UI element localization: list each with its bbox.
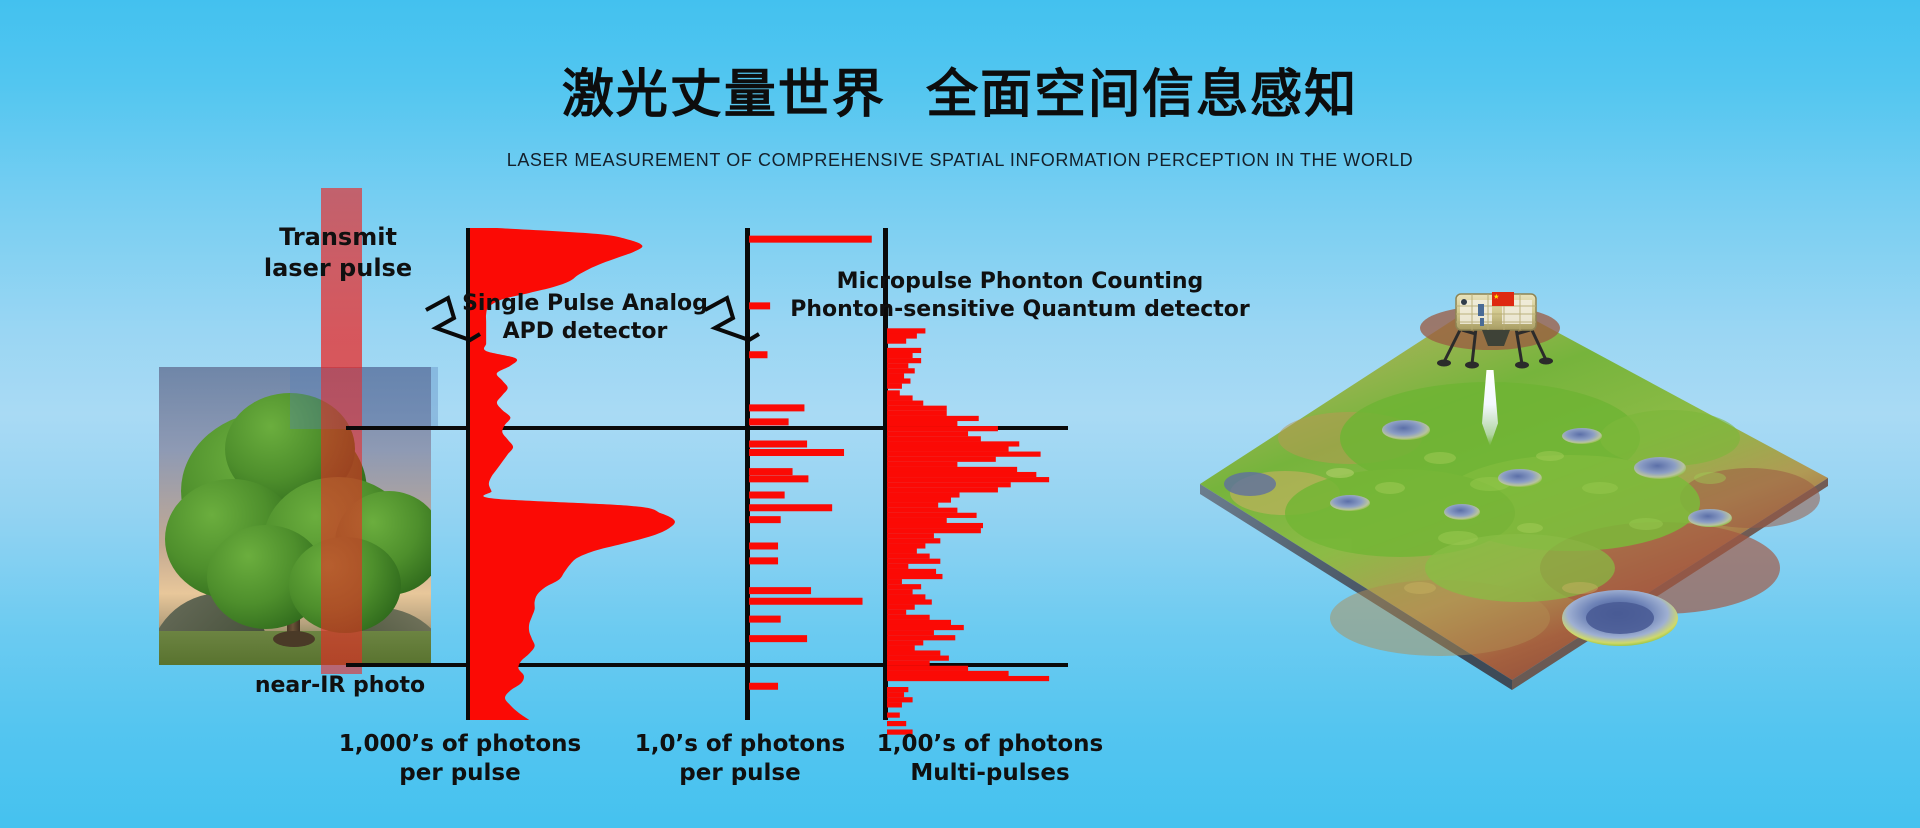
chart-bar bbox=[749, 616, 781, 623]
chart-bar bbox=[887, 620, 951, 625]
chart-bar bbox=[887, 605, 915, 610]
chart-bar bbox=[887, 487, 998, 492]
chart-bar bbox=[887, 497, 951, 502]
chart-bar bbox=[749, 635, 807, 642]
chart-bar bbox=[887, 436, 981, 441]
chart-bar bbox=[887, 615, 930, 620]
lunar-lander bbox=[1430, 284, 1560, 380]
chart-bar bbox=[887, 348, 921, 353]
chart-bar bbox=[887, 431, 968, 436]
chart-bar bbox=[887, 559, 940, 564]
chart-bar bbox=[887, 373, 904, 378]
lander-footpads bbox=[1437, 358, 1553, 369]
chart-bar bbox=[887, 368, 915, 373]
footer-label-chart1: 1,000’s of photons per pulse bbox=[300, 730, 620, 789]
chart-bar bbox=[887, 543, 925, 548]
chart-bar bbox=[887, 395, 913, 400]
chart-bar bbox=[887, 564, 908, 569]
chart-bar bbox=[887, 482, 1011, 487]
chart-bar bbox=[887, 446, 1009, 451]
chart-bar bbox=[887, 599, 932, 604]
chart-bar bbox=[887, 508, 957, 513]
chart-bar bbox=[887, 692, 904, 697]
page-title: 激光丈量世界 全面空间信息感知 bbox=[0, 52, 1920, 127]
label-near-ir-photo: near-IR photo bbox=[210, 672, 470, 700]
chart-bar bbox=[749, 587, 811, 594]
chart-bar bbox=[887, 528, 981, 533]
china-flag-icon bbox=[1492, 292, 1514, 306]
chart-bar bbox=[887, 713, 900, 718]
poster-canvas: 激光丈量世界 全面空间信息感知 LASER MEASUREMENT OF COM… bbox=[0, 0, 1920, 828]
chart-bar bbox=[887, 635, 955, 640]
chart-bar bbox=[887, 462, 957, 467]
chart-bar bbox=[749, 468, 793, 475]
page-subtitle: LASER MEASUREMENT OF COMPREHENSIVE SPATI… bbox=[0, 150, 1920, 171]
chart-bar bbox=[887, 671, 1009, 676]
chart-bar bbox=[887, 574, 942, 579]
chart-bar bbox=[749, 683, 778, 690]
chart-bar bbox=[887, 401, 923, 406]
chart-bar bbox=[887, 339, 906, 344]
chart-bar bbox=[887, 676, 1049, 681]
chart-bar bbox=[887, 702, 902, 707]
chart-bar bbox=[887, 378, 910, 383]
chart-bar bbox=[887, 610, 906, 615]
chart-bar bbox=[887, 353, 913, 358]
chart-bar bbox=[887, 523, 983, 528]
chart-bar bbox=[749, 404, 804, 411]
chart-bar bbox=[887, 548, 917, 553]
chart-bar bbox=[749, 557, 778, 564]
chart-bar bbox=[887, 363, 908, 368]
chart-bar bbox=[887, 503, 938, 508]
chart-bar bbox=[749, 492, 785, 499]
chart-bar bbox=[749, 598, 863, 605]
chart-bar bbox=[887, 457, 996, 462]
chart-bar bbox=[887, 406, 947, 411]
chart-bar bbox=[887, 467, 1017, 472]
chart-bar bbox=[887, 721, 906, 726]
chart-bar bbox=[887, 416, 979, 421]
chart-bar bbox=[749, 475, 808, 482]
footer-label-chart3: 1,00’s of photons Multi-pulses bbox=[830, 730, 1150, 789]
chart-bar bbox=[887, 661, 930, 666]
chart-bar bbox=[887, 640, 923, 645]
chart-bar bbox=[887, 426, 998, 431]
chart-bar bbox=[887, 630, 934, 635]
chart-bar bbox=[887, 697, 913, 702]
chart-bar bbox=[887, 492, 960, 497]
chart-bar bbox=[887, 589, 913, 594]
label-single-pulse-analog-apd: Single Pulse Analog APD detector bbox=[420, 290, 750, 346]
chart-bar bbox=[887, 650, 940, 655]
chart-bar bbox=[887, 579, 902, 584]
chart-bar bbox=[749, 236, 872, 243]
chart-bar bbox=[887, 441, 1019, 446]
chart-bar bbox=[749, 351, 767, 358]
chart-bar bbox=[749, 504, 832, 511]
chart-bar bbox=[749, 516, 781, 523]
chart-bar bbox=[887, 518, 947, 523]
chart-bar bbox=[887, 390, 900, 395]
chart-bar bbox=[887, 645, 915, 650]
chart-bar bbox=[887, 421, 957, 426]
chart-bar bbox=[887, 333, 917, 338]
chart-bar bbox=[887, 687, 908, 692]
chart-bar bbox=[887, 411, 947, 416]
chart-bar bbox=[887, 513, 977, 518]
chart-bar bbox=[749, 418, 789, 425]
chart-bar bbox=[887, 569, 936, 574]
chart-bar bbox=[749, 449, 844, 456]
chart-bar bbox=[749, 543, 778, 550]
label-transmit-laser-pulse: Transmit laser pulse bbox=[228, 222, 448, 283]
chart-bar bbox=[887, 384, 902, 389]
chart2-axis-break-icon bbox=[703, 288, 763, 350]
chart-bar bbox=[887, 538, 940, 543]
chart-bar bbox=[887, 452, 1041, 457]
chart-bar bbox=[887, 358, 921, 363]
chart-bar bbox=[887, 477, 1049, 482]
photo-blue-tint-overlay bbox=[290, 367, 438, 429]
chart-bar bbox=[887, 666, 968, 671]
chart-bar bbox=[887, 472, 1036, 477]
chart-bar bbox=[887, 328, 925, 333]
chart-bar bbox=[749, 441, 807, 448]
chart-bar bbox=[887, 625, 964, 630]
chart-bar bbox=[887, 584, 921, 589]
chart-bar bbox=[887, 656, 949, 661]
chart-bar bbox=[887, 533, 934, 538]
chart-bar bbox=[887, 554, 930, 559]
chart-bar bbox=[887, 594, 925, 599]
